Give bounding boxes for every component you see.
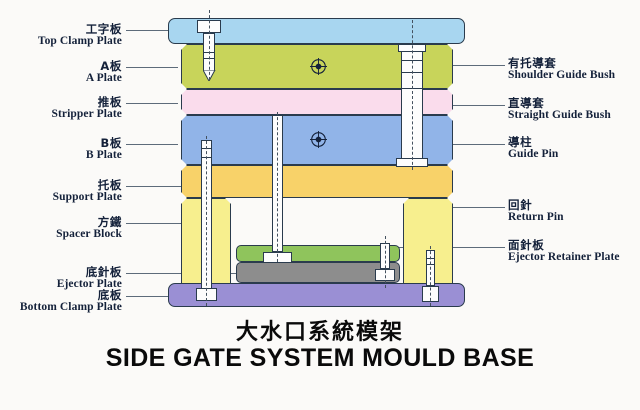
label-b-plate: B板 B Plate bbox=[0, 137, 122, 161]
label-ejector-plate: 底針板 Ejector Plate bbox=[0, 266, 122, 290]
label-a-plate: A板 A Plate bbox=[0, 60, 122, 84]
part-ejector-retainer-plate bbox=[236, 245, 400, 262]
leader-support-plate bbox=[126, 186, 186, 187]
label-b-plate-cn: B板 bbox=[0, 137, 122, 149]
label-ejector-retainer-plate: 面針板 Ejector Retainer Plate bbox=[508, 239, 620, 263]
label-return-pin-en: Return Pin bbox=[508, 211, 564, 223]
label-return-pin: 回針 Return Pin bbox=[508, 199, 564, 223]
leader-a-plate bbox=[126, 67, 178, 68]
label-straight-guide-bush-en: Straight Guide Bush bbox=[508, 109, 611, 121]
guide-pin-center-axis bbox=[412, 20, 413, 170]
label-guide-pin-en: Guide Pin bbox=[508, 148, 558, 160]
label-spacer-block-cn: 方鐵 bbox=[0, 216, 122, 228]
label-return-pin-cn: 回針 bbox=[508, 199, 564, 211]
label-straight-guide-bush: 直導套 Straight Guide Bush bbox=[508, 97, 611, 121]
label-straight-guide-bush-cn: 直導套 bbox=[508, 97, 611, 109]
label-support-plate-en: Support Plate bbox=[0, 191, 122, 203]
datum-target-icon-b-plate bbox=[310, 131, 327, 148]
title-english: SIDE GATE SYSTEM MOULD BASE bbox=[0, 344, 640, 373]
label-ejector-plate-cn: 底針板 bbox=[0, 266, 122, 278]
label-support-plate: 托板 Support Plate bbox=[0, 179, 122, 203]
label-spacer-block-en: Spacer Block bbox=[0, 228, 122, 240]
label-top-clamp-plate-cn: 工字板 bbox=[0, 23, 122, 35]
leader-stripper-plate bbox=[126, 103, 178, 104]
leader-b-plate bbox=[126, 144, 178, 145]
label-spacer-block: 方鐵 Spacer Block bbox=[0, 216, 122, 240]
label-shoulder-guide-bush-cn: 有托導套 bbox=[508, 57, 615, 69]
mould-base-diagram: 工字板 Top Clamp Plate A板 A Plate 推板 Stripp… bbox=[0, 0, 640, 410]
label-ejector-retainer-plate-en: Ejector Retainer Plate bbox=[508, 251, 620, 263]
label-stripper-plate-en: Stripper Plate bbox=[0, 108, 122, 120]
center-ejector-axis bbox=[277, 112, 278, 262]
label-a-plate-en: A Plate bbox=[0, 72, 122, 84]
leader-spacer-block bbox=[126, 223, 190, 224]
label-stripper-plate: 推板 Stripper Plate bbox=[0, 96, 122, 120]
title-chinese: 大水口系統模架 bbox=[0, 314, 640, 346]
label-ejector-retainer-plate-cn: 面針板 bbox=[508, 239, 620, 251]
datum-target-icon-a-plate bbox=[310, 58, 327, 75]
label-top-clamp-plate: 工字板 Top Clamp Plate bbox=[0, 23, 122, 47]
label-a-plate-cn: A板 bbox=[0, 60, 122, 72]
label-top-clamp-plate-en: Top Clamp Plate bbox=[0, 35, 122, 47]
leader-bottom-clamp-plate bbox=[126, 296, 170, 297]
top-cap-screw-axis bbox=[209, 10, 210, 80]
label-guide-pin-cn: 導柱 bbox=[508, 136, 558, 148]
label-support-plate-cn: 托板 bbox=[0, 179, 122, 191]
return-pin-axis bbox=[385, 236, 386, 288]
label-b-plate-en: B Plate bbox=[0, 149, 122, 161]
bottom-screw-axis bbox=[430, 246, 431, 306]
label-bottom-clamp-plate-en: Bottom Clamp Plate bbox=[0, 301, 122, 313]
label-stripper-plate-cn: 推板 bbox=[0, 96, 122, 108]
label-bottom-clamp-plate-cn: 底板 bbox=[0, 289, 122, 301]
label-shoulder-guide-bush: 有托導套 Shoulder Guide Bush bbox=[508, 57, 615, 81]
label-bottom-clamp-plate: 底板 Bottom Clamp Plate bbox=[0, 289, 122, 313]
label-shoulder-guide-bush-en: Shoulder Guide Bush bbox=[508, 69, 615, 81]
left-return-pin-axis bbox=[206, 136, 207, 306]
leader-top-clamp-plate bbox=[126, 30, 172, 31]
label-guide-pin: 導柱 Guide Pin bbox=[508, 136, 558, 160]
